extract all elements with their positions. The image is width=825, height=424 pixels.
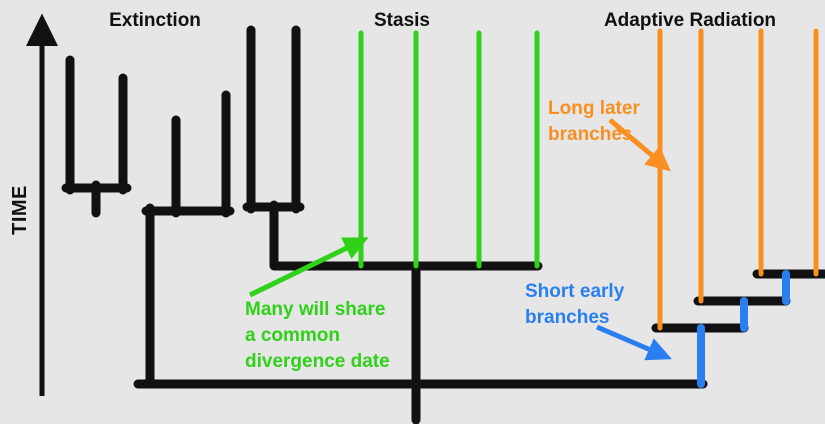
panel-title-extinction: Extinction <box>109 10 201 31</box>
time-axis-group: TIME <box>9 30 42 396</box>
short-early-branches-note-line-2: branches <box>525 307 609 328</box>
long-later-branches-note-line-1: Long later <box>548 98 640 119</box>
stasis-note-line-2: a common <box>245 325 340 346</box>
panel-title-stasis: Stasis <box>374 10 430 31</box>
tree-diagram-canvas: TIME ExtinctionStasisAdaptive Radiation … <box>0 0 825 424</box>
green-stasis-tips <box>361 33 537 266</box>
short-early-branches-note: Short earlybranches <box>525 281 660 354</box>
annotations-group: Many will sharea commondivergence dateLo… <box>245 98 661 372</box>
time-axis-label: TIME <box>9 185 31 235</box>
short-early-branches-note-line-1: Short early <box>525 281 625 302</box>
stasis-note-line-1: Many will share <box>245 299 385 320</box>
black-horizontal-branches <box>66 188 825 384</box>
short-early-branches-note-arrow-icon <box>597 327 660 354</box>
stasis-note-text: Many will sharea commondivergence date <box>245 299 390 372</box>
short-early-branches-note-text: Short earlybranches <box>525 281 625 328</box>
panel-titles-group: ExtinctionStasisAdaptive Radiation <box>109 10 776 31</box>
stasis-note-line-3: divergence date <box>245 351 390 372</box>
long-later-branches-note-text: Long laterbranches <box>548 98 640 145</box>
long-later-branches-note: Long laterbranches <box>548 98 661 163</box>
panel-title-adaptive_radiation: Adaptive Radiation <box>604 10 776 31</box>
phylogeny-figure: TIME ExtinctionStasisAdaptive Radiation … <box>0 0 825 424</box>
orange-radiation-tips <box>660 31 816 328</box>
